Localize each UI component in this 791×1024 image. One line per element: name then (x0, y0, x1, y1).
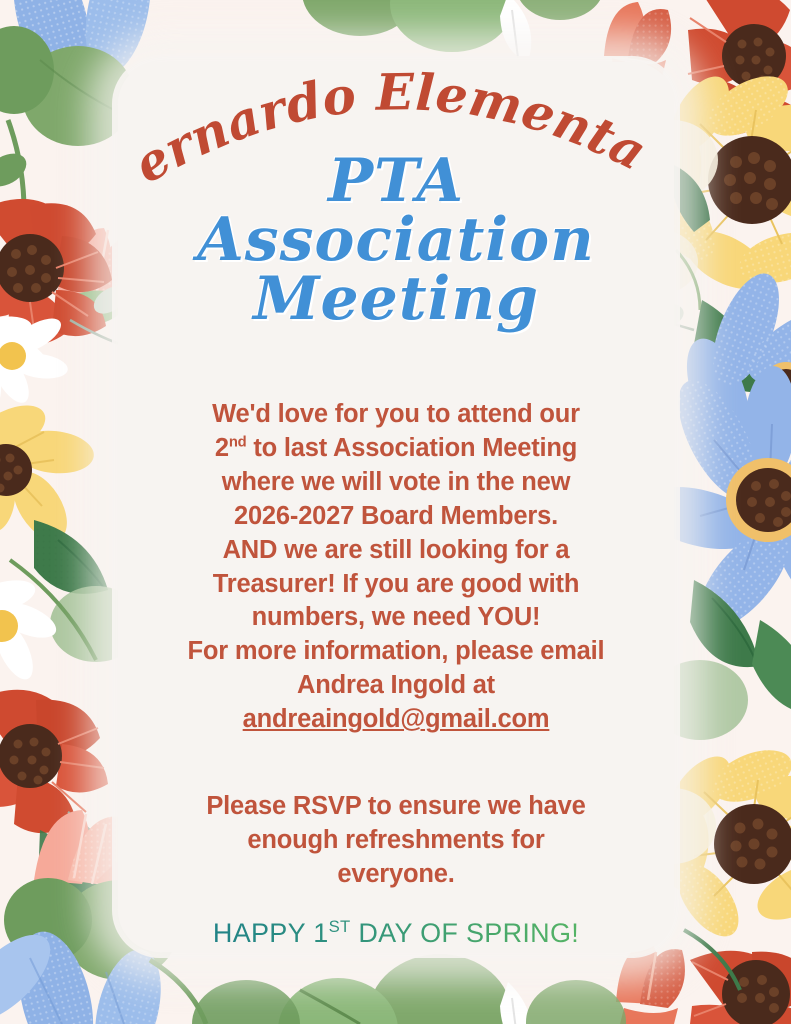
body-line-2-rest: to last Association Meeting (246, 434, 577, 462)
contact-email-line: andreaingold@gmail.com (140, 703, 652, 737)
body-line-6: Treasurer! If you are good with (140, 568, 652, 602)
rsvp-line-3: everyone. (140, 858, 652, 892)
page-title: PTA Association Meeting (118, 152, 674, 328)
body-line-3: where we will vote in the new (140, 466, 652, 500)
body-line-5: AND we are still looking for a (140, 534, 652, 568)
contact-email-link[interactable]: andreaingold@gmail.com (243, 705, 550, 733)
rsvp-text: Please RSVP to ensure we have enough ref… (140, 790, 652, 892)
body-line-9: Andrea Ingold at (140, 669, 652, 703)
ordinal-suffix: nd (229, 434, 247, 450)
body-line-1: We'd love for you to attend our (140, 398, 652, 432)
title-line-pta: PTA (118, 152, 674, 211)
body-line-7: numbers, we need YOU! (140, 601, 652, 635)
poster-content: Bernardo Elementary PTA Association Meet… (0, 0, 791, 1024)
rsvp-line-2: enough refreshments for (140, 824, 652, 858)
spring-rest: DAY OF SPRING! (351, 918, 580, 948)
ordinal-number: 2 (215, 434, 229, 462)
spring-prefix: HAPPY 1 (213, 918, 329, 948)
title-line-meeting: Meeting (118, 270, 674, 329)
poster: Bernardo Elementary PTA Association Meet… (0, 0, 791, 1024)
body-text: We'd love for you to attend our 2nd to l… (140, 398, 652, 737)
body-line-8: For more information, please email (140, 635, 652, 669)
rsvp-line-1: Please RSVP to ensure we have (140, 790, 652, 824)
spring-ordinal-suffix: ST (329, 917, 351, 936)
spring-greeting: HAPPY 1ST DAY OF SPRING! (118, 918, 674, 949)
body-line-2: 2nd to last Association Meeting (140, 432, 652, 466)
title-line-association: Association (118, 211, 674, 270)
body-line-4: 2026-2027 Board Members. (140, 500, 652, 534)
